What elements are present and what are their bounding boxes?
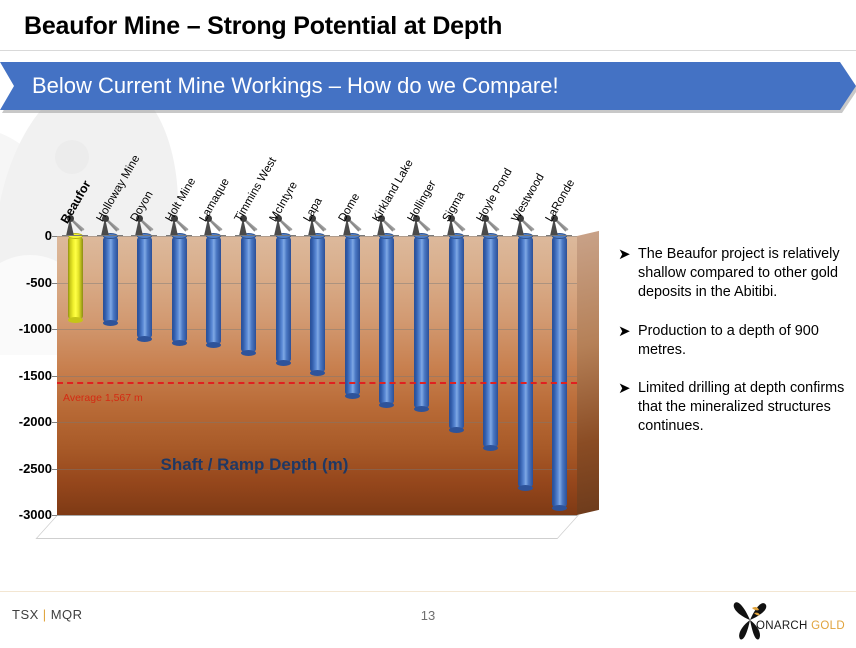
bullet-list: ➤ The Beaufor project is relatively shal… bbox=[618, 245, 850, 456]
y-axis-tick-label: -1500 bbox=[0, 368, 52, 383]
headframe-base bbox=[62, 235, 88, 237]
chart-bar bbox=[276, 236, 291, 363]
chart-axis-title: Shaft / Ramp Depth (m) bbox=[57, 455, 452, 475]
gridline bbox=[57, 422, 577, 423]
bar-bottom-cap bbox=[68, 317, 83, 323]
chart-bar bbox=[206, 236, 221, 345]
bar-bottom-cap bbox=[379, 402, 394, 408]
headframe-base bbox=[512, 235, 538, 237]
bar-body bbox=[552, 236, 567, 508]
y-axis-tick-mark bbox=[52, 329, 57, 330]
list-item: ➤ The Beaufor project is relatively shal… bbox=[618, 245, 850, 303]
bar-body bbox=[518, 236, 533, 488]
chart-bar bbox=[137, 236, 152, 339]
chart-bar bbox=[103, 236, 118, 323]
bar-body bbox=[276, 236, 291, 363]
bar-body bbox=[206, 236, 221, 345]
bullet-text: Production to a depth of 900 metres. bbox=[638, 322, 850, 360]
chart-bar bbox=[379, 236, 394, 405]
bullet-text: The Beaufor project is relatively shallo… bbox=[638, 245, 850, 303]
footer-divider bbox=[0, 591, 856, 592]
gridline bbox=[57, 515, 577, 516]
bar-body bbox=[172, 236, 187, 343]
logo-wordmark: ONARCH GOLD bbox=[756, 620, 845, 632]
page-title: Beaufor Mine – Strong Potential at Depth bbox=[24, 12, 502, 41]
bar-body bbox=[68, 236, 83, 320]
headframe-base bbox=[97, 235, 123, 237]
chart-bar bbox=[241, 236, 256, 353]
bar-bottom-cap bbox=[206, 342, 221, 348]
headframe-base bbox=[131, 235, 157, 237]
y-axis-tick-label: -2000 bbox=[0, 414, 52, 429]
bar-bottom-cap bbox=[345, 393, 360, 399]
chart-bar bbox=[518, 236, 533, 488]
y-axis-tick-mark bbox=[52, 376, 57, 377]
headframe-base bbox=[270, 235, 296, 237]
logo-name-dark: ONARCH bbox=[756, 620, 811, 632]
chart-bar bbox=[483, 236, 498, 448]
headframe-base bbox=[443, 235, 469, 237]
section-banner: Below Current Mine Workings – How do we … bbox=[0, 62, 856, 110]
y-axis-tick-label: -500 bbox=[0, 275, 52, 290]
headframe-base bbox=[477, 235, 503, 237]
banner-label: Below Current Mine Workings – How do we … bbox=[32, 62, 559, 110]
bar-body bbox=[449, 236, 464, 430]
bar-bottom-cap bbox=[449, 427, 464, 433]
list-item: ➤ Production to a depth of 900 metres. bbox=[618, 322, 850, 360]
title-divider bbox=[0, 50, 856, 51]
bar-bottom-cap bbox=[172, 340, 187, 346]
headframe-base bbox=[408, 235, 434, 237]
list-item: ➤ Limited drilling at depth confirms tha… bbox=[618, 379, 850, 437]
bar-body bbox=[103, 236, 118, 323]
chart-bar bbox=[345, 236, 360, 396]
headframe-base bbox=[235, 235, 261, 237]
average-depth-line bbox=[57, 382, 577, 384]
bar-body bbox=[241, 236, 256, 353]
chart-bar bbox=[172, 236, 187, 343]
y-axis-tick-mark bbox=[52, 236, 57, 237]
bullet-text: Limited drilling at depth confirms that … bbox=[638, 379, 850, 437]
chart-bar bbox=[449, 236, 464, 430]
headframe-base bbox=[304, 235, 330, 237]
bar-body bbox=[137, 236, 152, 339]
chart-bar bbox=[68, 236, 83, 320]
bar-bottom-cap bbox=[483, 445, 498, 451]
shaft-depth-chart: Average 1,567 m Shaft / Ramp Depth (m) 0… bbox=[0, 115, 615, 535]
chart-3d-floor bbox=[35, 515, 579, 539]
headframe-base bbox=[339, 235, 365, 237]
chart-bar bbox=[552, 236, 567, 508]
bar-body bbox=[345, 236, 360, 396]
chart-3d-side-wall bbox=[577, 231, 599, 515]
y-axis-tick-mark bbox=[52, 422, 57, 423]
y-axis-tick-label: -3000 bbox=[0, 507, 52, 522]
headframe-base bbox=[200, 235, 226, 237]
y-axis-tick-mark bbox=[52, 515, 57, 516]
company-logo: ONARCH GOLD bbox=[728, 596, 848, 642]
bar-body bbox=[310, 236, 325, 373]
chart-bar bbox=[310, 236, 325, 373]
y-axis-tick-mark bbox=[52, 469, 57, 470]
arrow-bullet-icon: ➤ bbox=[618, 322, 638, 360]
y-axis-tick-mark bbox=[52, 283, 57, 284]
y-axis-tick-label: -1000 bbox=[0, 321, 52, 336]
arrow-bullet-icon: ➤ bbox=[618, 379, 638, 437]
bar-body bbox=[379, 236, 394, 405]
headframe-base bbox=[546, 235, 572, 237]
y-axis-tick-label: -2500 bbox=[0, 461, 52, 476]
average-depth-label: Average 1,567 m bbox=[63, 392, 143, 404]
bar-body bbox=[483, 236, 498, 448]
logo-name-gold: GOLD bbox=[811, 620, 845, 632]
chart-plot-area: Average 1,567 m Shaft / Ramp Depth (m) bbox=[57, 236, 577, 515]
headframe-base bbox=[373, 235, 399, 237]
y-axis-tick-label: 0 bbox=[0, 228, 52, 243]
headframe-base bbox=[166, 235, 192, 237]
bar-bottom-cap bbox=[310, 370, 325, 376]
arrow-bullet-icon: ➤ bbox=[618, 245, 638, 303]
